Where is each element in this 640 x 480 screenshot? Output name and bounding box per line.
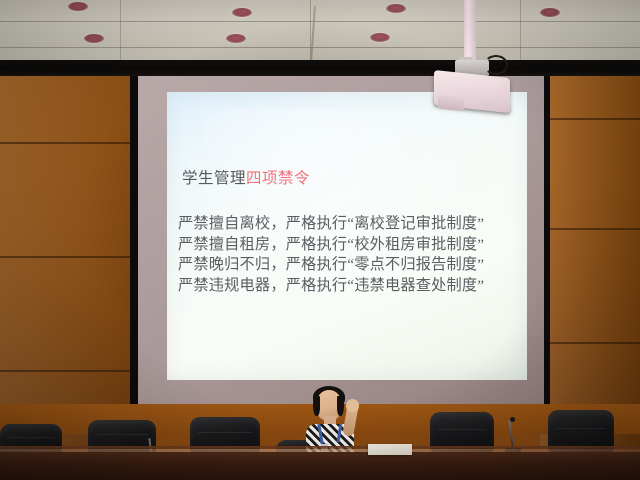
presenter-hand (346, 399, 359, 412)
wall-seam (540, 228, 640, 230)
wall-seam (0, 142, 140, 144)
slide-line: 严禁擅自租房，严格执行“校外租房审批制度” (178, 235, 522, 256)
chair-seam (556, 428, 606, 429)
ceiling-light-4 (370, 33, 390, 42)
projector-lens (438, 95, 464, 112)
wall-seam (0, 370, 140, 372)
projector-cable (484, 55, 508, 75)
ceiling-light-1 (232, 8, 252, 17)
ceiling-light-6 (84, 34, 104, 43)
chair-seam (438, 429, 487, 430)
mic-1-head (510, 417, 515, 422)
ceiling-shadow-band (0, 60, 640, 76)
ceiling-light-5 (68, 2, 88, 11)
slide-body: 严禁擅自离校，严格执行“离校登记审批制度” 严禁擅自租房，严格执行“校外租房审批… (178, 214, 522, 296)
wall-seam (540, 118, 640, 120)
lecture-hall-photo: 学生管理四项禁令 严禁擅自离校，严格执行“离校登记审批制度” 严禁擅自租房，严格… (0, 0, 640, 480)
chair-seam (7, 437, 54, 438)
ceiling-light-7 (540, 8, 560, 17)
wall-seam (0, 256, 140, 258)
slide-line: 严禁违规电器，严格执行“违禁电器查处制度” (178, 276, 522, 297)
slide-line: 严禁晚归不归，严格执行“零点不归报告制度” (178, 255, 522, 276)
desk-front (0, 452, 640, 480)
slide-line: 严禁擅自离校，严格执行“离校登记审批制度” (178, 214, 522, 235)
slide-title-accent: 四项禁令 (246, 170, 310, 187)
slide-content: 学生管理四项禁令 严禁擅自离校，严格执行“离校登记审批制度” 严禁擅自租房，严格… (167, 92, 527, 380)
wall-seam (540, 342, 640, 344)
mic-2-head (150, 435, 155, 440)
presenter-hair-left (313, 396, 320, 416)
presenter-hair-right (337, 396, 344, 416)
slide-title-prefix: 学生管理 (182, 170, 246, 187)
papers-stack (368, 444, 412, 455)
slide-title: 学生管理四项禁令 (182, 166, 310, 188)
chair-seam (96, 434, 148, 435)
chair-seam (198, 432, 251, 433)
ceiling-light-3 (226, 34, 246, 43)
ceiling-light-2 (386, 4, 406, 13)
